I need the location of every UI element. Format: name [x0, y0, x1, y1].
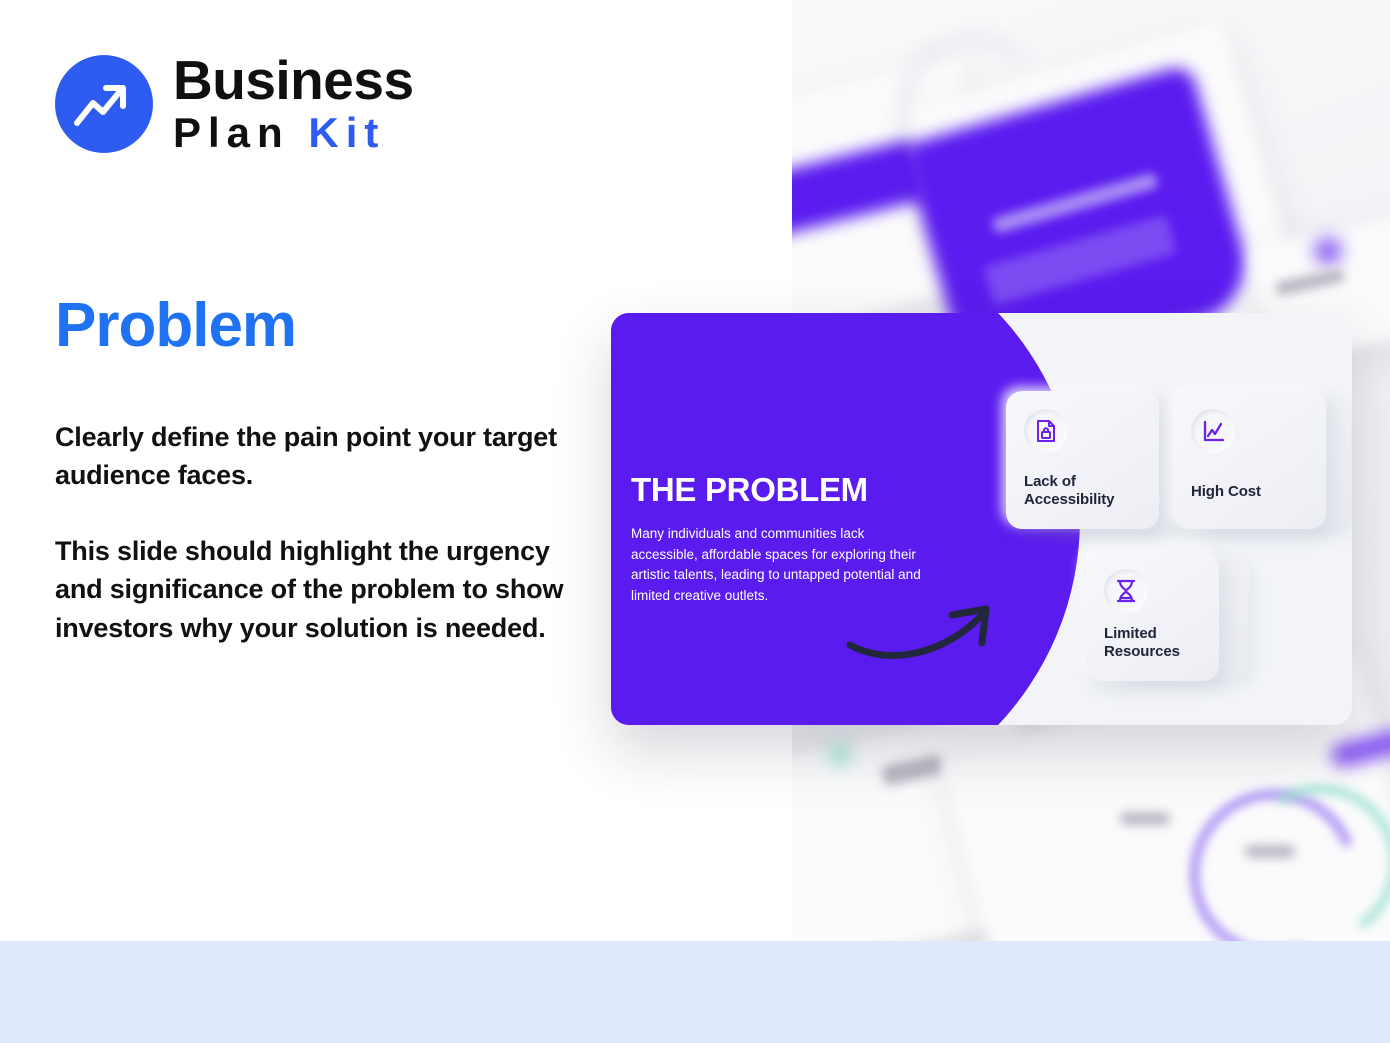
hourglass-icon — [1104, 569, 1148, 613]
brand-wordmark: Business Plan Kit — [173, 53, 414, 154]
line-chart-icon — [1191, 409, 1235, 453]
brand-name-line2: Plan Kit — [173, 112, 414, 154]
slide-preview-card[interactable]: THE PROBLEM Many individuals and communi… — [611, 313, 1352, 725]
tile-lack-of-accessibility[interactable]: Lack of Accessibility — [1006, 391, 1159, 529]
trend-arrow-up-icon — [55, 55, 153, 153]
tile-high-cost[interactable]: High Cost — [1173, 391, 1326, 529]
brand-lockup: Business Plan Kit — [55, 53, 414, 154]
brand-name-line1: Business — [173, 53, 414, 108]
document-lock-icon — [1024, 409, 1068, 453]
page-title: Problem — [55, 295, 296, 357]
brand-name-plan: Plan — [173, 109, 290, 156]
slide-text-block: THE PROBLEM Many individuals and communi… — [631, 473, 931, 606]
tile-label: Limited Resources — [1104, 625, 1219, 662]
brand-name-kit: Kit — [308, 109, 385, 156]
lead-paragraph: Clearly define the pain point your targe… — [55, 418, 595, 495]
detail-paragraph: This slide should highlight the urgency … — [55, 532, 601, 647]
tile-label: High Cost — [1191, 483, 1261, 501]
tile-label: Lack of Accessibility — [1024, 473, 1159, 510]
bottom-band — [0, 941, 1390, 1043]
backdrop-text-line — [1120, 812, 1170, 825]
backdrop-dot — [1315, 238, 1341, 264]
backdrop-text-line — [1245, 845, 1295, 858]
backdrop-dot — [830, 745, 850, 765]
slide-title: THE PROBLEM — [631, 473, 931, 506]
curved-arrow-up-right-icon — [846, 593, 1006, 668]
tile-limited-resources[interactable]: Limited Resources — [1086, 551, 1219, 681]
page-root: Business Plan Kit Problem Clearly define… — [0, 0, 1390, 1043]
